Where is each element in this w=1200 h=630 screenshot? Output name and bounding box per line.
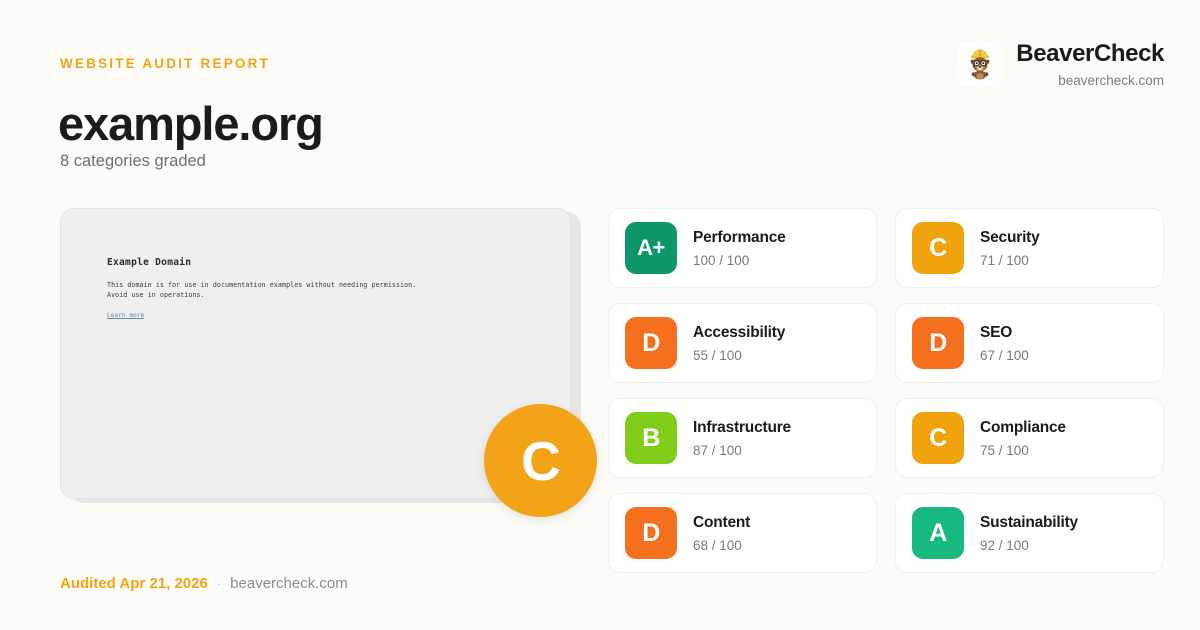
screenshot-learn-more-link[interactable]: Learn more	[107, 312, 144, 319]
category-card-security[interactable]: C Security 71 / 100	[895, 208, 1164, 288]
grade-tile: C	[912, 412, 964, 464]
grade-tile: A	[912, 507, 964, 559]
category-card-content[interactable]: D Content 68 / 100	[608, 493, 877, 573]
report-page: WEBSITE AUDIT REPORT example.org 8 categ…	[0, 0, 1200, 630]
category-name: Content	[693, 514, 750, 532]
category-name: Accessibility	[693, 324, 785, 342]
beaver-hardhat-icon	[958, 42, 1002, 86]
report-footer: Audited Apr 21, 2026 · beavercheck.com	[60, 575, 348, 592]
category-card-accessibility[interactable]: D Accessibility 55 / 100	[608, 303, 877, 383]
report-header: WEBSITE AUDIT REPORT example.org 8 categ…	[0, 0, 1200, 180]
category-score: 68 / 100	[693, 538, 750, 553]
brand: BeaverCheck beavercheck.com	[958, 40, 1164, 88]
category-card-seo[interactable]: D SEO 67 / 100	[895, 303, 1164, 383]
category-score: 55 / 100	[693, 348, 785, 363]
brand-text: BeaverCheck beavercheck.com	[1016, 40, 1164, 88]
grade-tile: C	[912, 222, 964, 274]
category-name: Security	[980, 229, 1040, 247]
category-score: 87 / 100	[693, 443, 791, 458]
footer-site-url: beavercheck.com	[230, 575, 348, 592]
category-card-sustainability[interactable]: A Sustainability 92 / 100	[895, 493, 1164, 573]
brand-url: beavercheck.com	[1058, 73, 1164, 88]
category-grid: A+ Performance 100 / 100 C Security 71 /…	[608, 208, 1164, 573]
category-score: 75 / 100	[980, 443, 1066, 458]
grade-tile: D	[625, 317, 677, 369]
report-eyebrow-label: WEBSITE AUDIT REPORT	[60, 56, 270, 71]
grade-tile: D	[625, 507, 677, 559]
category-score: 100 / 100	[693, 253, 786, 268]
category-card-infrastructure[interactable]: B Infrastructure 87 / 100	[608, 398, 877, 478]
category-name: Performance	[693, 229, 786, 247]
overall-grade-badge: C	[484, 404, 597, 517]
category-name: SEO	[980, 324, 1029, 342]
category-name: Compliance	[980, 419, 1066, 437]
screenshot-body-text: This domain is for use in documentation …	[107, 280, 427, 300]
category-name: Infrastructure	[693, 419, 791, 437]
grade-tile: A+	[625, 222, 677, 274]
audit-date: Audited Apr 21, 2026	[60, 575, 208, 592]
category-card-performance[interactable]: A+ Performance 100 / 100	[608, 208, 877, 288]
category-score: 92 / 100	[980, 538, 1078, 553]
grade-tile: B	[625, 412, 677, 464]
categories-count-label: 8 categories graded	[60, 152, 206, 171]
category-score: 71 / 100	[980, 253, 1040, 268]
grade-tile: D	[912, 317, 964, 369]
category-score: 67 / 100	[980, 348, 1029, 363]
category-card-compliance[interactable]: C Compliance 75 / 100	[895, 398, 1164, 478]
footer-separator: ·	[217, 576, 221, 591]
page-title: example.org	[58, 98, 323, 150]
category-name: Sustainability	[980, 514, 1078, 532]
screenshot-heading: Example Domain	[107, 257, 524, 268]
brand-name: BeaverCheck	[1016, 40, 1164, 68]
